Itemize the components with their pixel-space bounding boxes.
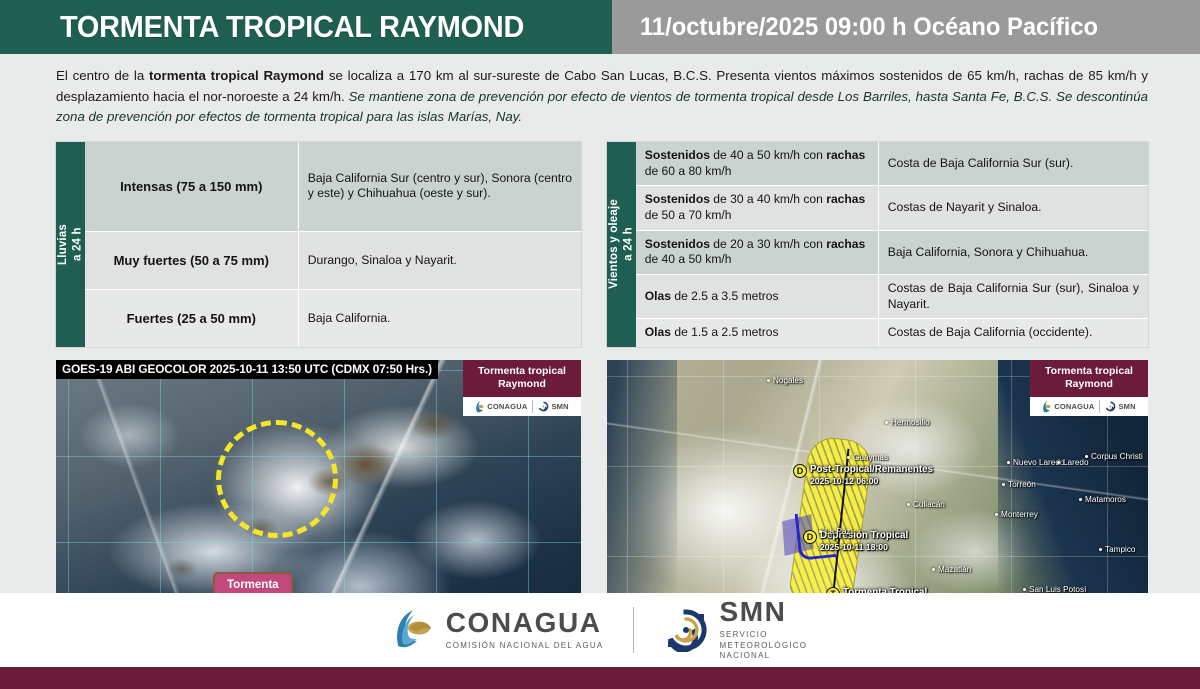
city-label: Guaymas — [847, 453, 888, 462]
city-label: Hermosillo — [885, 418, 930, 427]
track-point-label: Post-Tropical/Remanentes 2025-10-12 06:0… — [810, 464, 933, 486]
footer-divider — [633, 607, 634, 653]
wind-category: Sostenidos de 30 a 40 km/h con rachas de… — [636, 186, 879, 230]
wind-category: Sostenidos de 40 a 50 km/h con rachas de… — [636, 142, 879, 186]
rain-tab-line1: Lluvias — [57, 224, 69, 265]
city-label: Mazatlán — [932, 565, 971, 574]
footer-logos: CONAGUA COMISIÓN NACIONAL DEL AGUA SMN S… — [0, 593, 1200, 667]
wave-category: Olas de 2.5 a 3.5 metros — [636, 275, 879, 319]
smn-subtitle: SERVICIO METEOROLÓGICO NACIONAL — [719, 630, 807, 661]
table-row: Olas de 1.5 a 2.5 metros Costas de Baja … — [636, 319, 1148, 347]
track-point-symbol: D — [793, 464, 807, 478]
smn-name: SMN — [719, 598, 807, 626]
track-point-symbol: D — [803, 530, 817, 544]
rain-zones: Baja California. — [298, 290, 581, 347]
rain-table-tab: Lluvias a 24 h — [56, 142, 85, 347]
city-label: Monterrey — [995, 510, 1038, 519]
conagua-mini-text: CONAGUA — [487, 402, 527, 411]
badge-divider — [532, 400, 533, 413]
storm-badge: Tormenta tropical Raymond CONAGUA — [1030, 360, 1148, 416]
conagua-mini-logo: CONAGUA — [475, 401, 527, 413]
smn-mini-logo: SMN — [1105, 401, 1135, 412]
wave-zones: Costas de Baja California (occidente). — [878, 319, 1148, 347]
bottom-accent-bar — [0, 667, 1200, 689]
badge-divider — [1099, 400, 1100, 413]
rain-category: Intensas (75 a 150 mm) — [85, 142, 299, 231]
city-label: Culiacán — [907, 500, 945, 509]
smn-sub-line1: SERVICIO — [719, 630, 767, 639]
smn-mini-logo: SMN — [538, 401, 568, 412]
smn-mini-text: SMN — [1118, 402, 1135, 411]
city-label: Matamoros — [1079, 495, 1126, 504]
wind-zones: Costa de Baja California Sur (sur). — [878, 142, 1148, 186]
table-row: Muy fuertes (50 a 75 mm) Durango, Sinalo… — [85, 231, 581, 289]
table-row: Sostenidos de 40 a 50 km/h con rachas de… — [636, 142, 1148, 186]
track-point-time: 2025-10-11 18:00 — [820, 542, 908, 552]
wind-wave-table: Vientos y oleaje a 24 h Sostenidos de 40… — [607, 142, 1148, 347]
storm-center-circle-icon — [216, 420, 338, 538]
smn-sub-line3: NACIONAL — [719, 651, 770, 660]
conagua-mini-text: CONAGUA — [1054, 402, 1094, 411]
smn-logo-text: SMN SERVICIO METEOROLÓGICO NACIONAL — [719, 598, 807, 661]
spiral-icon — [1105, 401, 1116, 412]
rain-category: Muy fuertes (50 a 75 mm) — [85, 231, 299, 289]
wave-category: Olas de 1.5 a 2.5 metros — [636, 319, 879, 347]
city-label: Torreón — [1002, 480, 1036, 489]
track-point-stage: Post-Tropical/Remanentes — [810, 464, 933, 475]
table-row: Sostenidos de 20 a 30 km/h con rachas de… — [636, 230, 1148, 274]
spiral-icon — [538, 401, 549, 412]
forecast-tables: Lluvias a 24 h Intensas (75 a 150 mm) Ba… — [56, 142, 1148, 347]
wind-zones: Baja California, Sonora y Chihuahua. — [878, 230, 1148, 274]
desc-storm-name: tormenta tropical Raymond — [149, 68, 324, 83]
bulletin-page: TORMENTA TROPICAL RAYMOND 11/octubre/202… — [0, 0, 1200, 689]
smn-mini-text: SMN — [551, 402, 568, 411]
marker-line-1: Tormenta — [227, 579, 279, 591]
track-point-post-tropical[interactable]: D Post-Tropical/Remanentes 2025-10-12 06… — [793, 464, 933, 486]
badge-line-1: Tormenta tropical — [1045, 365, 1133, 377]
wave-zones: Costas de Baja California Sur (sur), Sin… — [878, 275, 1148, 319]
conagua-subtitle: COMISIÓN NACIONAL DEL AGUA — [446, 641, 604, 651]
smn-logo: SMN SERVICIO METEOROLÓGICO NACIONAL — [664, 598, 807, 661]
table-row: Fuertes (25 a 50 mm) Baja California. — [85, 290, 581, 347]
city-label: Laredo — [1057, 458, 1089, 467]
conagua-logo-text: CONAGUA COMISIÓN NACIONAL DEL AGUA — [446, 609, 604, 651]
city-label: La Paz — [819, 527, 851, 536]
wind-zones: Costas de Nayarit y Sinaloa. — [878, 186, 1148, 230]
wind-category: Sostenidos de 20 a 30 km/h con rachas de… — [636, 230, 879, 274]
badge-line-1: Tormenta tropical — [478, 365, 566, 377]
conagua-logo: CONAGUA COMISIÓN NACIONAL DEL AGUA — [393, 608, 604, 652]
header-datetime-region: 11/octubre/2025 09:00 h Océano Pacífico — [640, 13, 1098, 42]
rain-category: Fuertes (25 a 50 mm) — [85, 290, 299, 347]
wind-tab-line2: a 24 h — [622, 228, 634, 262]
rain-table-grid: Intensas (75 a 150 mm) Baja California S… — [85, 142, 581, 347]
wind-table-grid: Sostenidos de 40 a 50 km/h con rachas de… — [636, 142, 1148, 347]
city-label: Tampico — [1099, 545, 1136, 554]
city-label: Corpus Christi — [1085, 452, 1143, 461]
header-meta-panel: 11/octubre/2025 09:00 h Océano Pacífico — [612, 0, 1200, 54]
badge-logos: CONAGUA SMN — [1030, 397, 1148, 416]
water-drop-icon — [1042, 401, 1052, 413]
page-title: TORMENTA TROPICAL RAYMOND — [60, 9, 524, 45]
conagua-name: CONAGUA — [446, 609, 604, 637]
rain-table: Lluvias a 24 h Intensas (75 a 150 mm) Ba… — [56, 142, 581, 347]
wind-table-tab: Vientos y oleaje a 24 h — [607, 142, 636, 347]
header-bar: TORMENTA TROPICAL RAYMOND 11/octubre/202… — [0, 0, 1200, 54]
conagua-mini-logo: CONAGUA — [1042, 401, 1094, 413]
table-row: Sostenidos de 30 a 40 km/h con rachas de… — [636, 186, 1148, 230]
rain-tab-line2: a 24 h — [71, 228, 83, 262]
smn-spiral-icon — [664, 608, 708, 652]
rain-zones: Durango, Sinaloa y Nayarit. — [298, 231, 581, 289]
storm-badge-name: Tormenta tropical Raymond — [463, 360, 581, 397]
table-row: Olas de 2.5 a 3.5 metros Costas de Baja … — [636, 275, 1148, 319]
city-label: Nogales — [767, 376, 803, 385]
desc-part-1: El centro de la — [56, 68, 149, 83]
badge-logos: CONAGUA SMN — [463, 397, 581, 416]
header-title-panel: TORMENTA TROPICAL RAYMOND — [0, 0, 612, 54]
storm-badge: Tormenta tropical Raymond CONAGUA — [463, 360, 581, 416]
badge-line-2: Raymond — [498, 378, 546, 390]
table-row: Intensas (75 a 150 mm) Baja California S… — [85, 142, 581, 231]
bulletin-description: El centro de la tormenta tropical Raymon… — [56, 66, 1148, 128]
smn-sub-line2: METEOROLÓGICO — [719, 641, 807, 650]
rain-zones: Baja California Sur (centro y sur), Sono… — [298, 142, 581, 231]
conagua-emblem-icon — [393, 608, 435, 652]
storm-badge-name: Tormenta tropical Raymond — [1030, 360, 1148, 397]
satellite-source-label: GOES-19 ABI GEOCOLOR 2025-10-11 13:50 UT… — [56, 360, 438, 379]
track-point-time: 2025-10-12 06:00 — [810, 476, 933, 486]
city-label: Nuevo Laredo — [1007, 458, 1064, 467]
wind-tab-line1: Vientos y oleaje — [608, 199, 620, 289]
badge-line-2: Raymond — [1065, 378, 1113, 390]
water-drop-icon — [475, 401, 485, 413]
